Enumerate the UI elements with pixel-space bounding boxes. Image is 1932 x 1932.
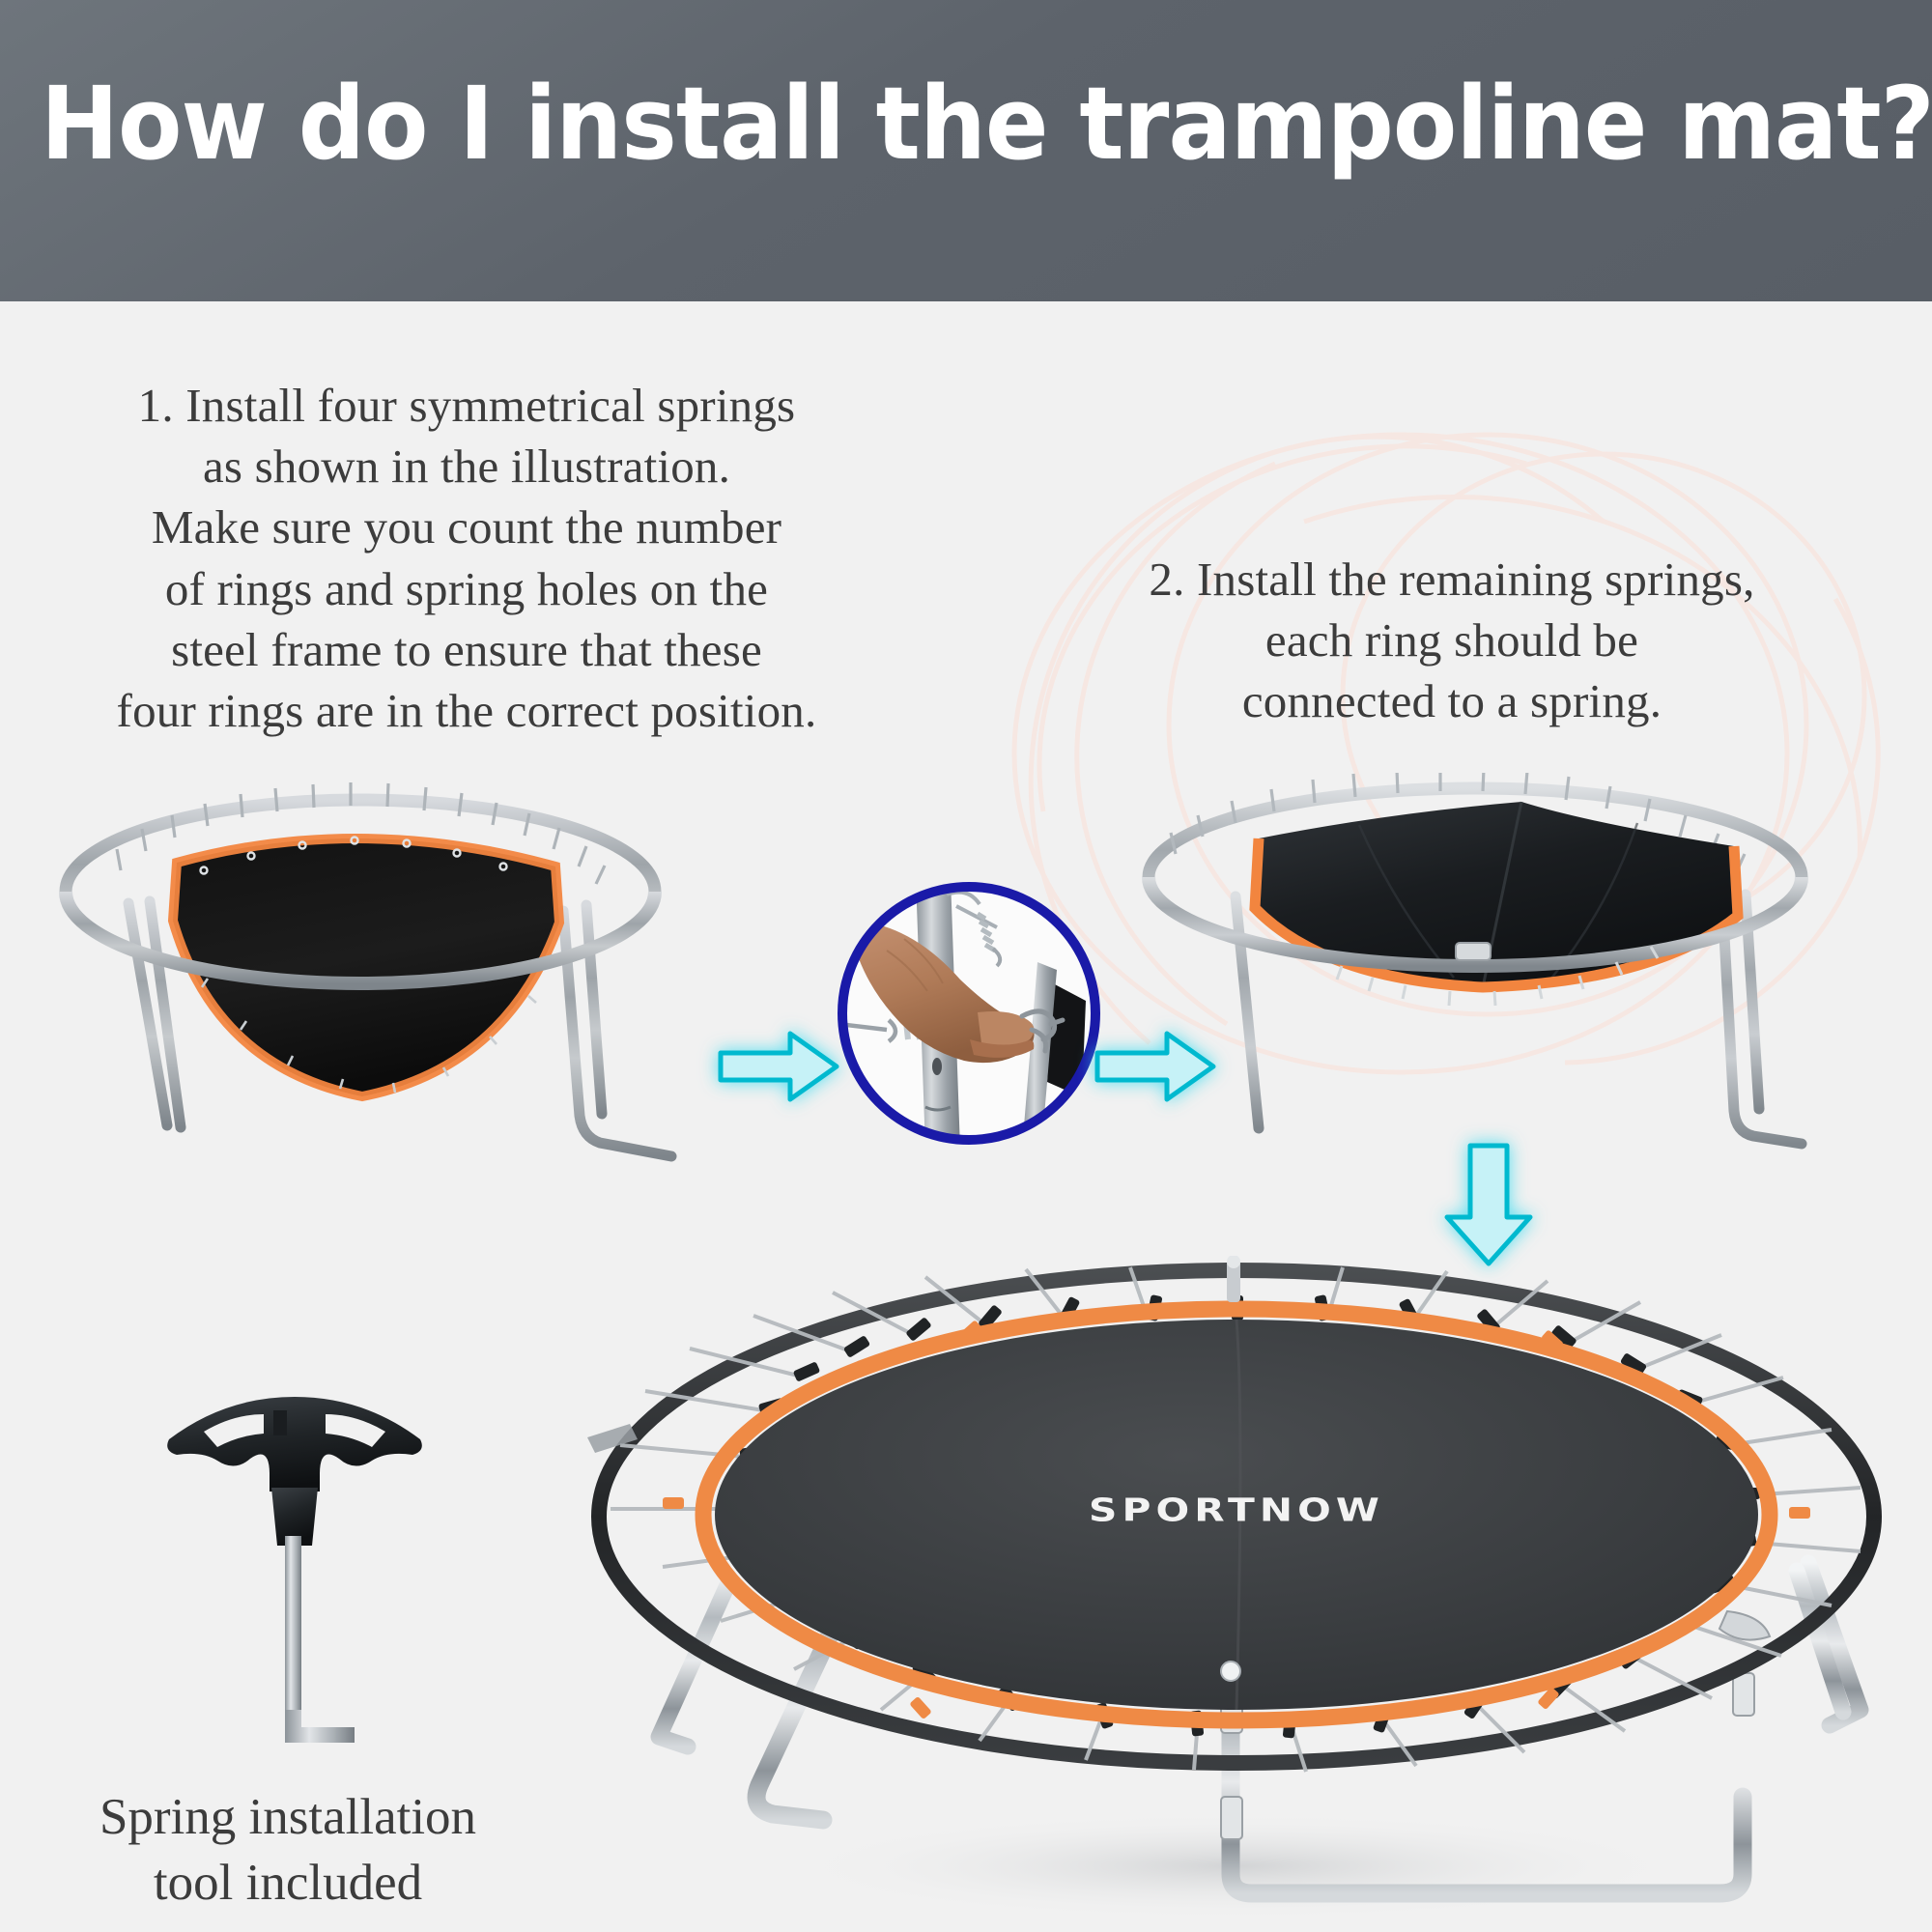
step-1-line-6: four rings are in the correct position.: [17, 680, 916, 741]
step-2-line-3: connected to a spring.: [1051, 670, 1853, 731]
brand-logo: SPORTNOW: [1089, 1492, 1384, 1528]
tool-caption-line-2: tool included: [17, 1851, 558, 1917]
arrow-right-icon-1: [717, 1022, 840, 1111]
tool-caption-line-1: Spring installation: [17, 1785, 558, 1851]
step-1-line-4: of rings and spring holes on the: [17, 558, 916, 619]
step-2-instruction: 2. Install the remaining springs, each r…: [1051, 549, 1853, 732]
trampoline-step-1-illustration: [53, 778, 720, 1203]
page-title: How do I install the trampoline mat?: [41, 71, 1932, 177]
infographic-page: How do I install the trampoline mat? 1. …: [0, 0, 1932, 1932]
step-1-line-3: Make sure you count the number: [17, 497, 916, 557]
trampoline-step-2-illustration: [1135, 773, 1831, 1188]
step-1-line-1: 1. Install four symmetrical springs: [17, 375, 916, 436]
step-2-line-2: each ring should be: [1051, 610, 1853, 670]
tool-caption: Spring installation tool included: [17, 1785, 558, 1917]
step-1-line-5: steel frame to ensure that these: [17, 619, 916, 680]
step-1-instruction: 1. Install four symmetrical springs as s…: [17, 375, 916, 741]
assembled-trampoline-illustration: SPORTNOW: [570, 1256, 1922, 1922]
step-2-line-1: 2. Install the remaining springs,: [1051, 549, 1853, 610]
header-banner: How do I install the trampoline mat?: [0, 0, 1932, 301]
arrow-down-icon: [1437, 1142, 1540, 1267]
svg-text:SPORTNOW: SPORTNOW: [1089, 1492, 1384, 1528]
spring-installation-tool-illustration: [150, 1391, 440, 1758]
spring-attachment-closeup-photo: [833, 877, 1105, 1150]
step-1-line-2: as shown in the illustration.: [17, 436, 916, 497]
